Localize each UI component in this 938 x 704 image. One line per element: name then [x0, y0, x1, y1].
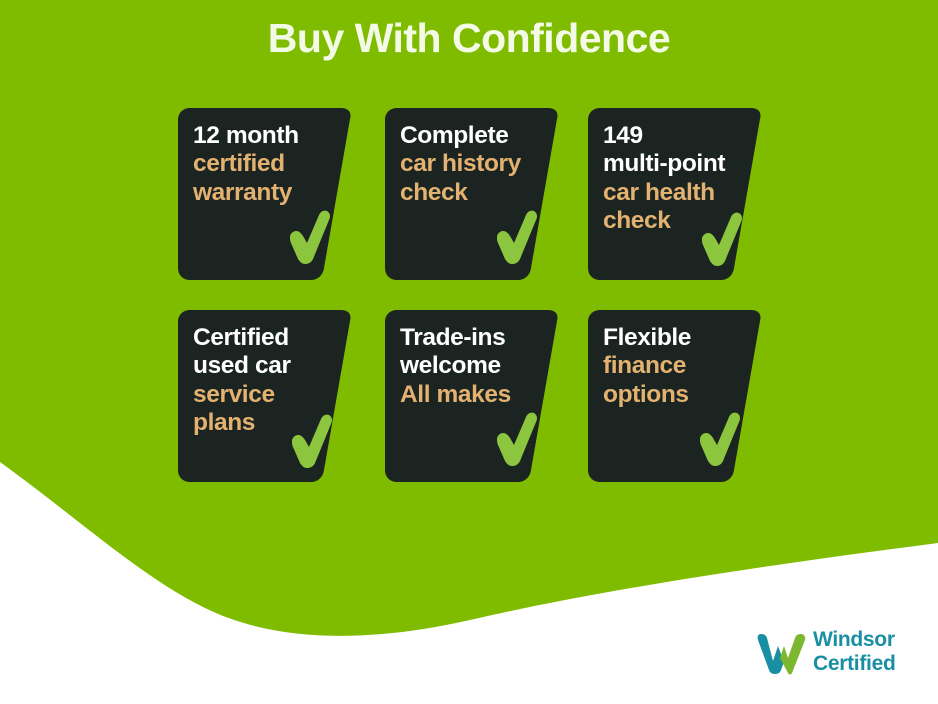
check-mark-icon: [493, 210, 539, 264]
card-line-white: 12 month: [193, 122, 343, 150]
feature-card[interactable]: Flexible finance options: [588, 310, 764, 482]
card-line-white: Trade-ins: [400, 324, 550, 352]
promo-banner: Buy With Confidence 12 month certified w…: [0, 0, 938, 704]
check-mark-icon: [288, 414, 334, 468]
card-line-tan: All makes: [400, 381, 550, 409]
card-text-block: 12 month certified warranty: [193, 122, 343, 207]
logo-wordmark: Windsor Certified: [813, 628, 895, 676]
check-mark-icon: [698, 212, 744, 266]
card-line-white: used car: [193, 352, 343, 380]
check-mark-icon: [286, 210, 332, 264]
logo-line-certified: Certified: [813, 652, 895, 676]
card-line-white: Complete: [400, 122, 550, 150]
card-text-block: Trade-ins welcome All makes: [400, 324, 550, 409]
card-line-white: welcome: [400, 352, 550, 380]
card-text-block: Flexible finance options: [603, 324, 753, 409]
feature-card[interactable]: Trade-ins welcome All makes: [385, 310, 561, 482]
card-text-block: Complete car history check: [400, 122, 550, 207]
card-line-white: 149: [603, 122, 753, 150]
feature-card[interactable]: Certified used car service plans: [178, 310, 354, 482]
feature-card[interactable]: 149 multi-point car health check: [588, 108, 764, 280]
card-line-tan: certified: [193, 150, 343, 178]
card-line-tan: check: [400, 179, 550, 207]
page-title: Buy With Confidence: [0, 16, 938, 61]
windsor-w-logo-icon: [757, 630, 807, 676]
check-mark-icon: [493, 412, 539, 466]
card-line-tan: car health: [603, 179, 753, 207]
card-line-tan: car history: [400, 150, 550, 178]
logo-line-windsor: Windsor: [813, 628, 895, 652]
card-line-white: Certified: [193, 324, 343, 352]
feature-card[interactable]: 12 month certified warranty: [178, 108, 354, 280]
check-mark-icon: [696, 412, 742, 466]
card-line-tan: service: [193, 381, 343, 409]
card-line-white: multi-point: [603, 150, 753, 178]
card-line-tan: finance: [603, 352, 753, 380]
card-line-white: Flexible: [603, 324, 753, 352]
card-line-tan: options: [603, 381, 753, 409]
card-line-tan: warranty: [193, 179, 343, 207]
brand-logo[interactable]: Windsor Certified: [757, 626, 917, 682]
feature-card[interactable]: Complete car history check: [385, 108, 561, 280]
